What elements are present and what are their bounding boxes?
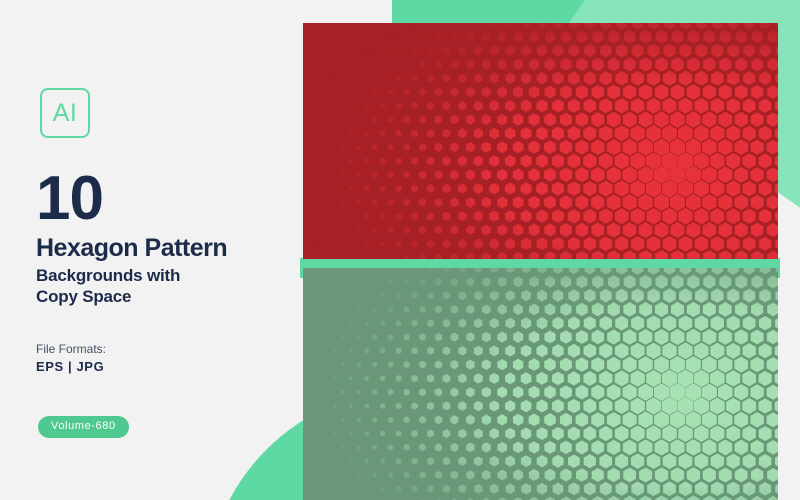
page-subtitle-line2: Copy Space [36,286,180,307]
ai-badge-label: AI [53,101,78,126]
ai-format-badge: AI [40,88,90,138]
info-column: AI 10 Hexagon Pattern Backgrounds with C… [0,0,300,500]
red-hexagon-pattern [303,23,778,259]
red-hexagon-preview[interactable] [303,23,778,259]
file-formats-label: File Formats: [36,343,106,355]
page-subtitle-line1: Backgrounds with [36,265,180,286]
page-title: Hexagon Pattern [36,236,227,261]
green-hexagon-preview[interactable] [303,268,778,500]
volume-badge: Volume-680 [38,416,129,438]
file-formats-value: EPS | JPG [36,360,104,373]
item-count: 10 [36,168,103,230]
page-subtitle: Backgrounds with Copy Space [36,265,180,308]
green-hexagon-pattern [303,268,778,500]
